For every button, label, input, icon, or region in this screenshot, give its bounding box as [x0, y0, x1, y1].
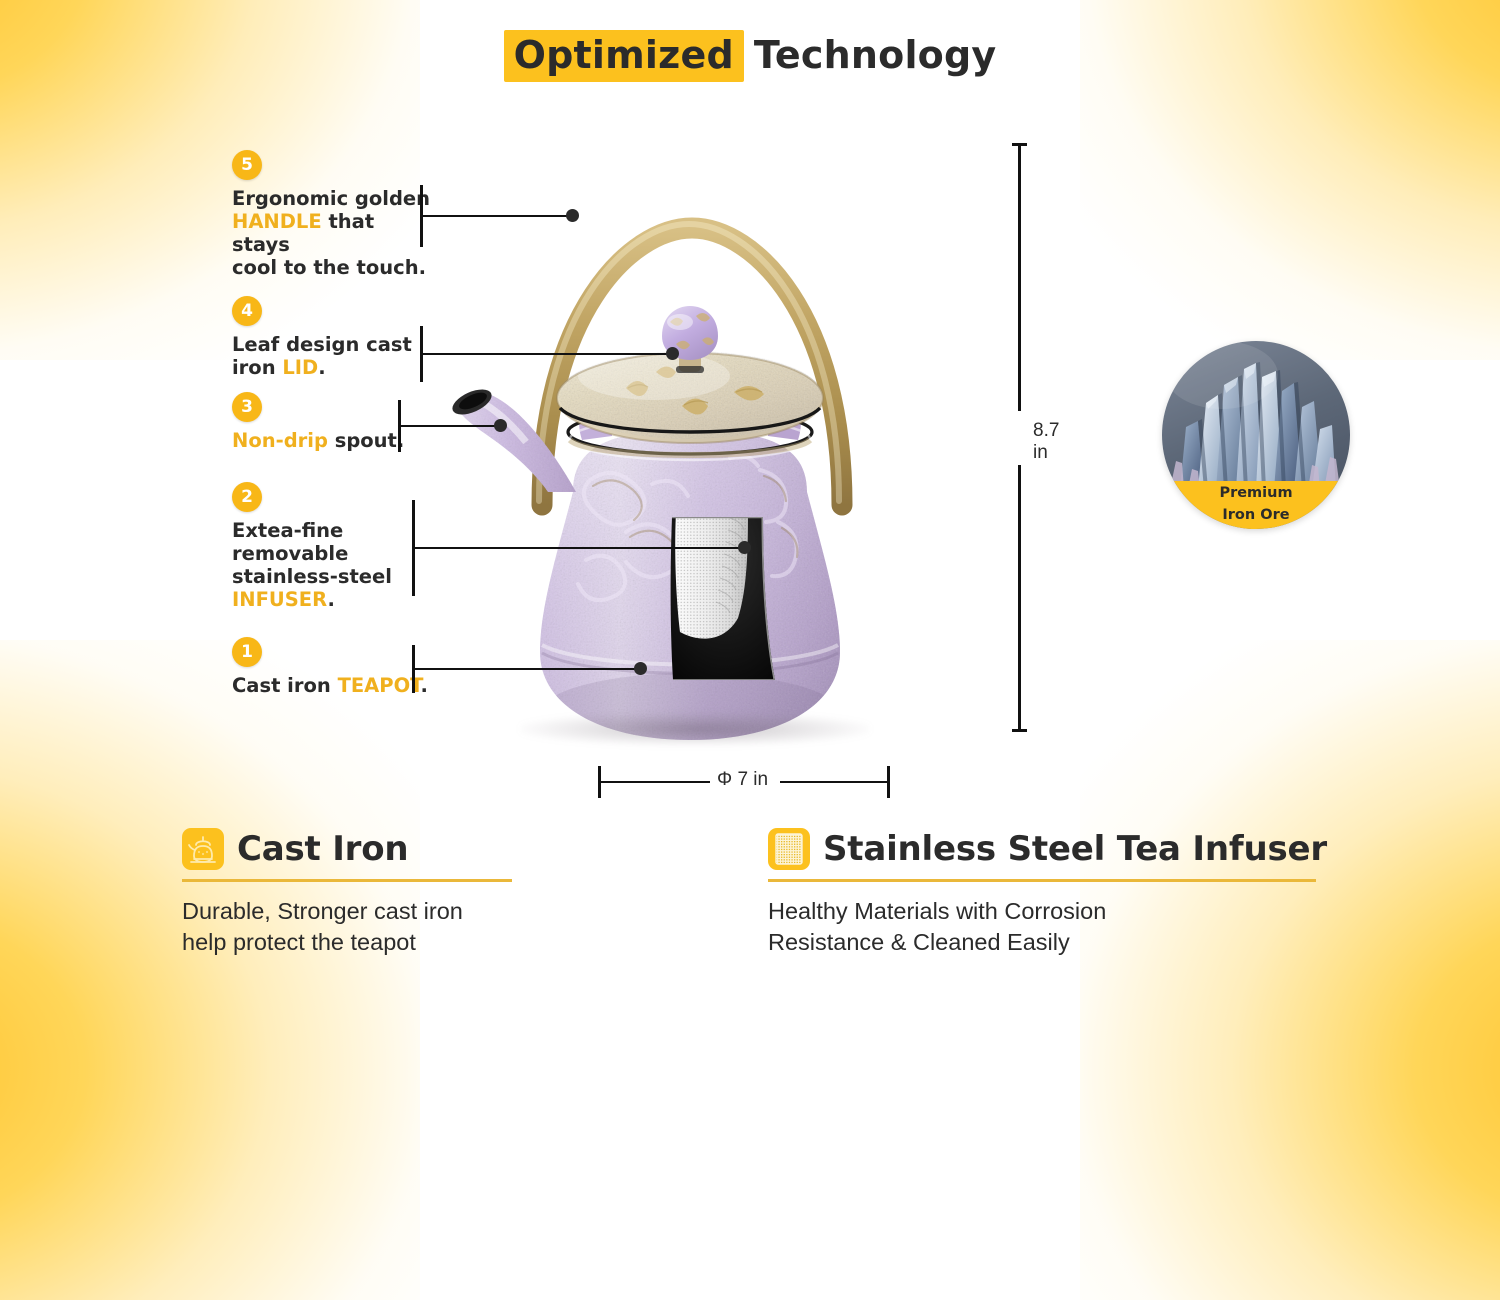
callout-5-line1: Ergonomic golden	[232, 187, 430, 210]
feature-infuser-head: Stainless Steel Tea Infuser	[768, 828, 1348, 870]
diameter-dimension-label: Φ 7 in	[717, 769, 768, 791]
teapot-drop-shadow	[520, 712, 870, 746]
ore-badge-line2: Iron Ore	[1162, 503, 1350, 525]
callout-2-line1: Extea-fine	[232, 519, 343, 542]
premium-iron-ore-badge: Premium Iron Ore	[1162, 341, 1350, 529]
callout-5-keyword: HANDLE	[232, 210, 322, 233]
callout-4: 4 Leaf design cast iron LID.	[232, 296, 432, 379]
feature-infuser-desc: Healthy Materials with Corrosion Resista…	[768, 896, 1348, 959]
callout-3-keyword: Non-drip	[232, 429, 328, 452]
callout-1-pre: Cast iron	[232, 674, 338, 697]
callout-2-keyword: INFUSER	[232, 588, 327, 611]
height-dimension-label: 8.7 in	[1030, 420, 1062, 464]
callout-5-text: Ergonomic golden HANDLE that stays cool …	[232, 187, 432, 279]
callout-5-badge: 5	[232, 150, 262, 180]
leader-line-2	[412, 500, 752, 596]
feature-infuser-rule	[768, 879, 1316, 882]
ore-badge-line1: Premium	[1162, 481, 1350, 503]
callout-4-line2-pre: iron	[232, 356, 282, 379]
feature-cast-iron-head: Cast Iron	[182, 828, 682, 870]
callout-4-keyword: LID	[282, 356, 318, 379]
callout-1-text: Cast iron TEAPOT.	[232, 674, 432, 697]
callout-2-post: .	[327, 588, 334, 611]
feature-cast-iron-desc-line2: help protect the teapot	[182, 929, 416, 955]
leader-line-5	[420, 185, 580, 247]
infographic-canvas: OptimizedTechnology	[0, 0, 1500, 1000]
mesh-grid-icon	[768, 828, 810, 870]
page-title-rest: Technology	[754, 33, 997, 77]
callout-1-badge: 1	[232, 637, 262, 667]
feature-infuser-desc-line2: Resistance & Cleaned Easily	[768, 929, 1070, 955]
callout-1-keyword: TEAPOT	[338, 674, 421, 697]
callout-2-badge: 2	[232, 482, 262, 512]
callout-2: 2 Extea-fine removable stainless-steel I…	[232, 482, 432, 611]
diameter-dimension: Φ 7 in	[598, 760, 890, 804]
callout-4-text: Leaf design cast iron LID.	[232, 333, 432, 379]
feature-infuser-heading: Stainless Steel Tea Infuser	[823, 829, 1327, 869]
callout-4-badge: 4	[232, 296, 262, 326]
callout-3-badge: 3	[232, 392, 262, 422]
callout-2-line3: stainless-steel	[232, 565, 392, 588]
leader-line-3	[398, 400, 508, 452]
leader-line-4	[420, 326, 680, 382]
page-title-highlight: Optimized	[504, 30, 744, 82]
ore-badge-band: Premium Iron Ore	[1162, 481, 1350, 529]
feature-cast-iron-desc-line1: Durable, Stronger cast iron	[182, 898, 463, 924]
callout-3-rest: spout.	[328, 429, 404, 452]
callout-5-line3: cool to the touch.	[232, 256, 426, 279]
feature-infuser-desc-line1: Healthy Materials with Corrosion	[768, 898, 1106, 924]
page-title: OptimizedTechnology	[0, 33, 1500, 77]
feature-cast-iron-heading: Cast Iron	[237, 829, 408, 869]
leader-line-1	[412, 645, 648, 693]
callout-1: 1 Cast iron TEAPOT.	[232, 637, 432, 697]
feature-cast-iron-desc: Durable, Stronger cast iron help protect…	[182, 896, 682, 959]
feature-infuser: Stainless Steel Tea Infuser Healthy Mate…	[768, 828, 1348, 958]
callout-2-line2: removable	[232, 542, 348, 565]
callout-2-text: Extea-fine removable stainless-steel INF…	[232, 519, 432, 611]
feature-cast-iron-rule	[182, 879, 512, 882]
cast-iron-teapot-icon	[182, 828, 224, 870]
callout-4-line1: Leaf design cast	[232, 333, 412, 356]
feature-cast-iron: Cast Iron Durable, Stronger cast iron he…	[182, 828, 682, 958]
callout-5: 5 Ergonomic golden HANDLE that stays coo…	[232, 150, 432, 279]
callout-4-line2-post: .	[318, 356, 325, 379]
